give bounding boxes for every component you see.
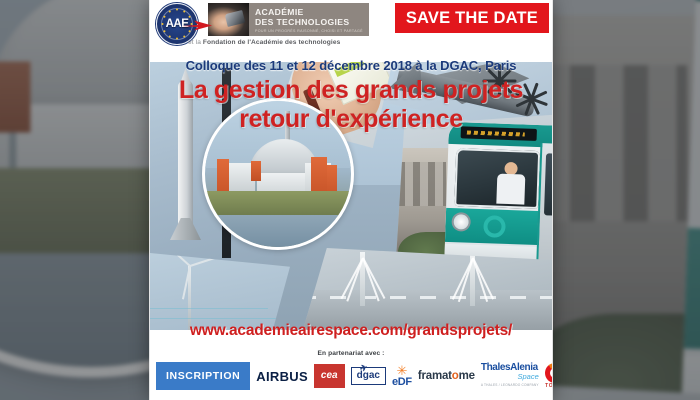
colloque-line: Colloque des 11 et 12 décembre 2018 à la… xyxy=(150,58,552,73)
poster-panel: AAE ACADÉMIE DES TECHNOLOGIES POUR UN PR… xyxy=(150,0,552,400)
title-line-2: retour d'expérience xyxy=(150,105,552,134)
academie-technologies-logo: ACADÉMIE DES TECHNOLOGIES POUR UN PROGRÈ… xyxy=(208,3,369,36)
partner-logo-dgac[interactable]: ✈ dgac xyxy=(351,367,386,385)
edf-label: eDF xyxy=(392,376,412,388)
partner-logo-total[interactable]: TOTAL xyxy=(545,363,552,389)
poster-header: AAE ACADÉMIE DES TECHNOLOGIES POUR UN PR… xyxy=(150,0,552,56)
poster-titles: Colloque des 11 et 12 décembre 2018 à la… xyxy=(150,56,552,140)
space-label: Space xyxy=(481,372,539,381)
partner-logo-edf[interactable]: ✳ eDF xyxy=(392,365,412,388)
red-arrow-icon xyxy=(182,20,212,31)
partners-footer: En partenariat avec : INSCRIPTION AIRBUS… xyxy=(150,348,552,400)
handshake-image xyxy=(208,3,249,36)
academie-tagline: POUR UN PROGRÈS RAISONNÉ, CHOISI ET PART… xyxy=(255,29,363,33)
partners-label: En partenariat avec : xyxy=(154,350,548,357)
foundation-prefix: et la xyxy=(188,39,203,46)
framatome-label-a: framat xyxy=(418,370,452,382)
inscription-button[interactable]: INSCRIPTION xyxy=(156,362,250,390)
title-line-1: La gestion des grands projets xyxy=(150,76,552,105)
framatome-label-o: o xyxy=(452,370,459,382)
save-the-date-badge: SAVE THE DATE xyxy=(395,3,549,33)
screenshot-stage: AAE ACADÉMIE DES TECHNOLOGIES POUR UN PR… xyxy=(0,0,700,400)
partner-logo-framatome[interactable]: framatome xyxy=(418,370,475,382)
thales-label: ThalesAlenia xyxy=(481,363,539,372)
total-mark-icon xyxy=(545,363,552,383)
thales-tagline: A THALES / LEONARDO COMPANY xyxy=(481,381,539,390)
framatome-label-b: me xyxy=(459,370,475,382)
academie-line-1: ACADÉMIE xyxy=(255,7,363,17)
partner-logo-airbus[interactable]: AIRBUS xyxy=(256,369,308,384)
bridge-shard xyxy=(300,248,552,330)
partner-logo-thales-alenia-space[interactable]: ThalesAlenia Space A THALES / LEONARDO C… xyxy=(481,363,539,390)
academie-line-2: DES TECHNOLOGIES xyxy=(255,17,363,27)
partner-logo-row: INSCRIPTION AIRBUS cea ✈ dgac ✳ eDF xyxy=(154,359,548,393)
website-url[interactable]: www.academieairespace.com/grandsprojets/ xyxy=(150,322,552,340)
foundation-text: Fondation de l'Académie des technologies xyxy=(203,39,340,46)
website-url-block: www.academieairespace.com/grandsprojets/ xyxy=(150,322,552,340)
edf-burst-icon: ✳ xyxy=(392,365,412,376)
partner-logo-cea[interactable]: cea xyxy=(314,364,345,388)
total-label: TOTAL xyxy=(545,383,552,389)
foundation-line: et la Fondation de l'Académie des techno… xyxy=(188,39,340,46)
